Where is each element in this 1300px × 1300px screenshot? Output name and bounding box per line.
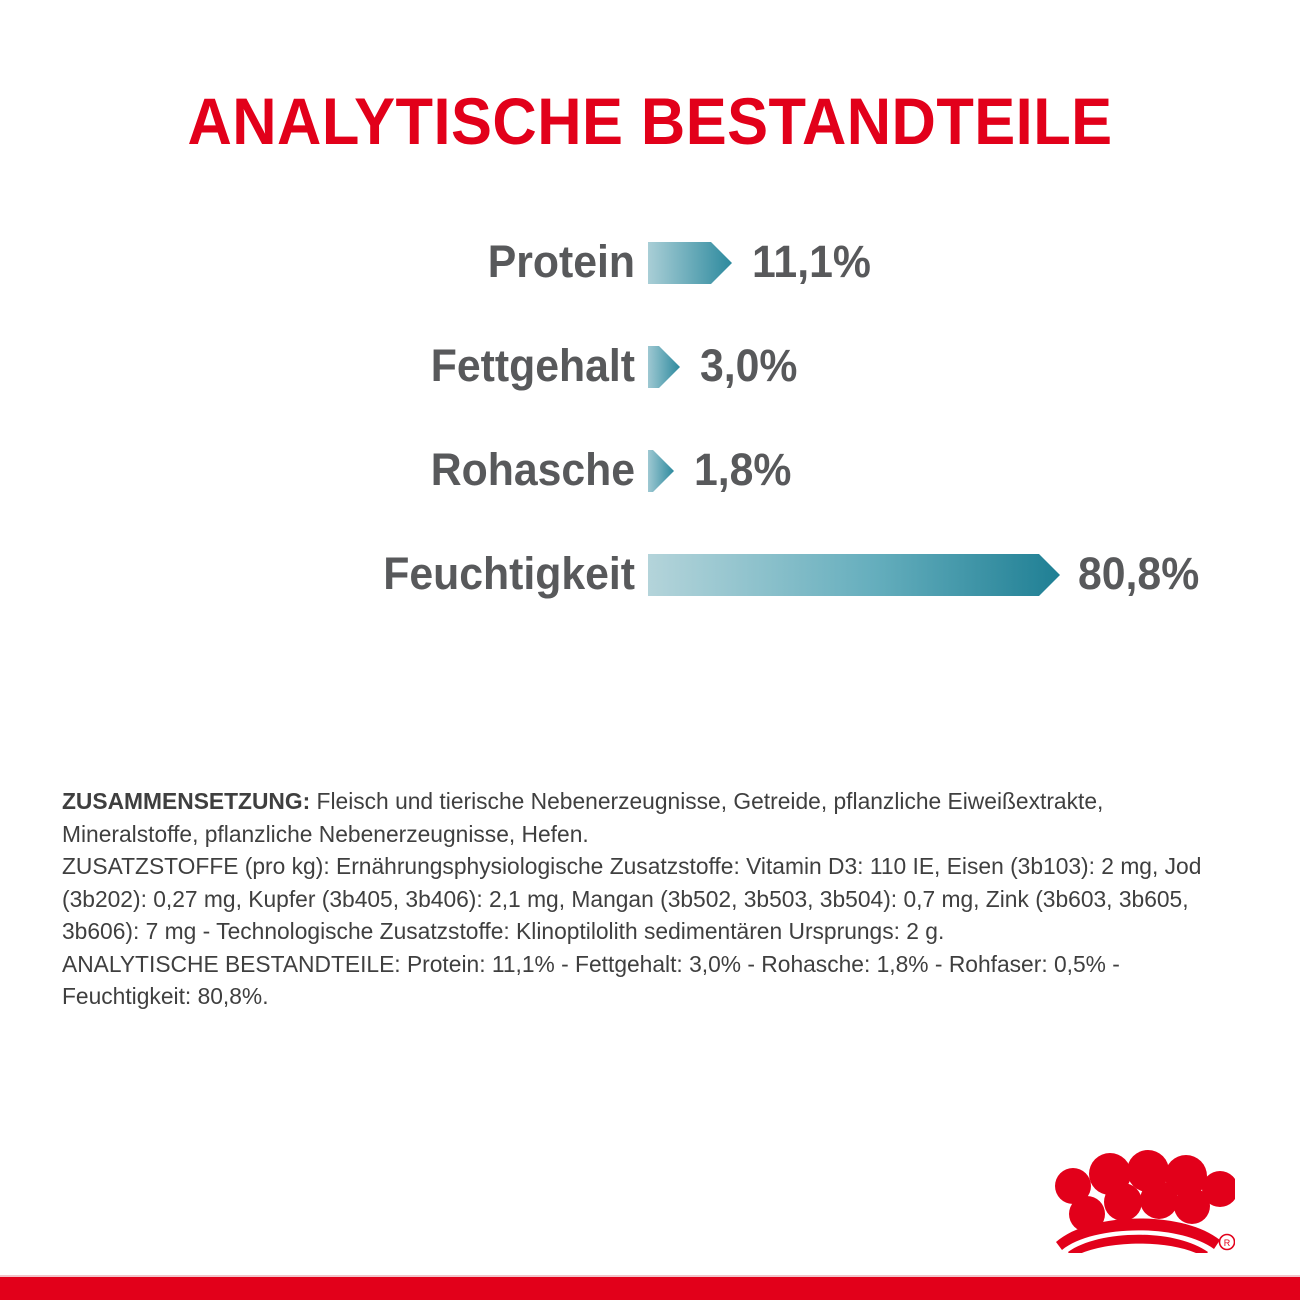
nutrition-panel: ANALYTISCHE BESTANDTEILE Protein 11,1% [0, 0, 1300, 1300]
composition-line-5: 3b606): 7 mg - Technologische Zusatzstof… [62, 915, 1207, 948]
nutrient-label-fettgehalt: Fettgehalt [431, 332, 635, 400]
composition-line-7: Feuchtigkeit: 80,8%. [62, 980, 1207, 1013]
composition-line-2: Mineralstoffe, pflanzliche Nebenerzeugni… [62, 818, 1207, 851]
nutrient-bar-feuchtigkeit [648, 554, 1060, 596]
nutrient-bar-protein [648, 242, 732, 284]
nutrient-bar-fettgehalt [648, 346, 680, 388]
nutrient-row-fettgehalt: Fettgehalt 3,0% [0, 332, 1300, 436]
nutrient-value-fettgehalt: 3,0% [700, 332, 797, 400]
nutrient-value-protein: 11,1% [752, 228, 871, 296]
nutrient-bar-rohasche [648, 450, 674, 492]
composition-line-4: (3b202): 0,27 mg, Kupfer (3b405, 3b406):… [62, 883, 1207, 916]
nutrient-row-rohasche: Rohasche 1,8% [0, 436, 1300, 540]
composition-text-block: ZUSAMMENSETZUNG: Fleisch und tierische N… [62, 785, 1207, 1013]
nutrient-row-protein: Protein 11,1% [0, 228, 1300, 332]
bottom-red-bar [0, 1277, 1300, 1300]
nutrient-row-feuchtigkeit: Feuchtigkeit 80,8% [0, 540, 1300, 644]
nutrient-value-rohasche: 1,8% [694, 436, 791, 504]
composition-line-1: ZUSAMMENSETZUNG: Fleisch und tierische N… [62, 785, 1207, 818]
nutrient-label-protein: Protein [488, 228, 635, 296]
nutrient-label-rohasche: Rohasche [431, 436, 635, 504]
page-title: ANALYTISCHE BESTANDTEILE [46, 88, 1255, 154]
nutrient-label-feuchtigkeit: Feuchtigkeit [383, 540, 635, 608]
nutrient-value-feuchtigkeit: 80,8% [1078, 540, 1199, 608]
composition-line-6: ANALYTISCHE BESTANDTEILE: Protein: 11,1%… [62, 948, 1207, 981]
composition-line-3: ZUSATZSTOFFE (pro kg): Ernährungsphysiol… [62, 850, 1207, 883]
composition-line-1-rest: Fleisch und tierische Nebenerzeugnisse, … [310, 788, 1103, 814]
composition-keyword: ZUSAMMENSETZUNG: [62, 788, 310, 814]
royal-canin-crown-logo: R [1030, 1148, 1235, 1253]
analytical-constituents-chart: Protein 11,1% Fettgehalt [0, 228, 1300, 644]
svg-text:R: R [1224, 1238, 1231, 1248]
